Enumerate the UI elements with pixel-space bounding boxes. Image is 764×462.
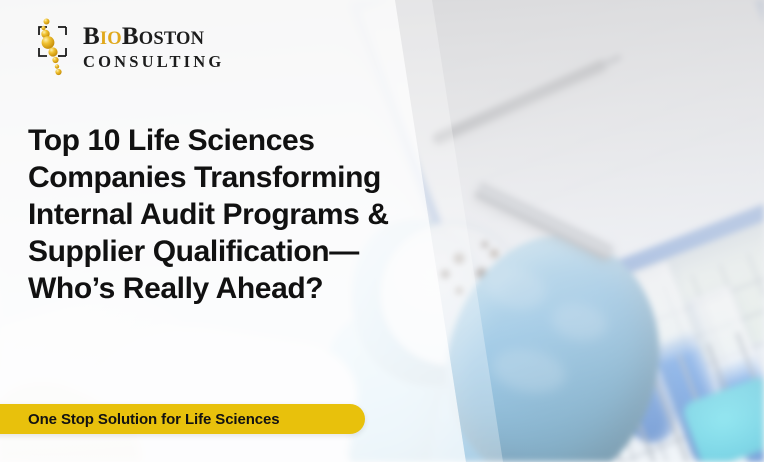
logo-boston-b: B <box>122 23 139 50</box>
logo-boston-oston: OSTON <box>139 29 204 49</box>
logo-bio-b: B <box>83 23 100 50</box>
logo-company-name: BIOBOSTON <box>83 24 224 49</box>
golden-spheres-logo-mark <box>28 18 74 76</box>
logo-bio-io: IO <box>100 29 122 49</box>
bioboston-logo[interactable]: BIOBOSTON CONSULTING <box>28 18 224 76</box>
logo-subtitle: CONSULTING <box>83 54 224 71</box>
page-title: Top 10 Life Sciences Companies Transform… <box>28 122 428 307</box>
tagline-banner: One Stop Solution for Life Sciences <box>0 404 365 434</box>
blog-hero-banner: BIOBOSTON CONSULTING Top 10 Life Science… <box>0 0 764 462</box>
logo-wordmark: BIOBOSTON CONSULTING <box>83 24 224 71</box>
tagline-text: One Stop Solution for Life Sciences <box>28 411 280 428</box>
